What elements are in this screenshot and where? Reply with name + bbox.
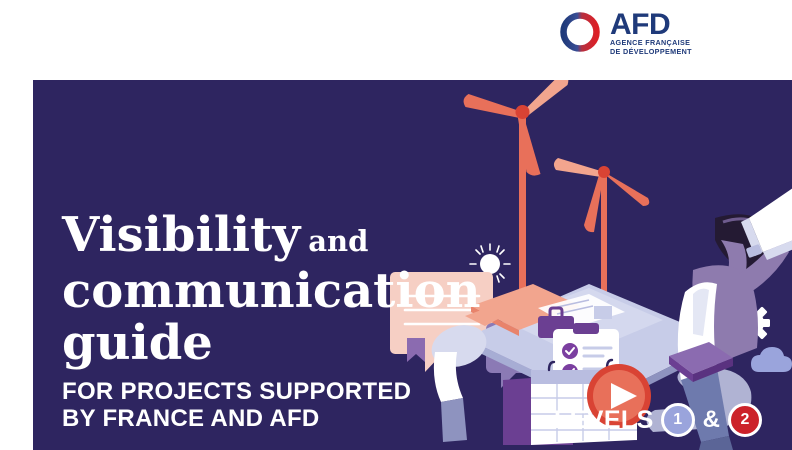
level-badge-1: 1 [661, 403, 695, 437]
title-conjunction: and [300, 224, 368, 258]
briefcase-icon [538, 308, 574, 338]
levels-row: LEVELS 1 & 2 [554, 403, 762, 437]
level-badge-2: 2 [728, 403, 762, 437]
title-line-3: guide [62, 316, 481, 370]
afd-logo: AFD AGENCE FRANÇAISE DE DÉVELOPPEMENT [558, 8, 692, 56]
cover-panel: Visibilityand communication guide FOR PR… [33, 80, 792, 450]
check-icon [562, 364, 578, 380]
decorative-prism [669, 342, 733, 382]
tablet-device [465, 284, 723, 410]
gear-icon [732, 304, 770, 342]
cloud-icon [751, 347, 792, 372]
speech-bubble-purple [486, 323, 549, 388]
levels-label: LEVELS [554, 406, 654, 435]
afd-tagline: AGENCE FRANÇAISE DE DÉVELOPPEMENT [610, 39, 692, 56]
afd-logo-ring-icon [558, 10, 602, 54]
header-bar: AFD AGENCE FRANÇAISE DE DÉVELOPPEMENT [0, 0, 792, 80]
check-icon [562, 343, 578, 359]
afd-logo-text: AFD AGENCE FRANÇAISE DE DÉVELOPPEMENT [610, 8, 692, 56]
levels-separator: & [702, 406, 721, 434]
wind-turbine-small [554, 158, 649, 335]
title-word-visibility: Visibility [62, 207, 300, 263]
cover-subtitle: FOR PROJECTS SUPPORTED BY FRANCE AND AFD [62, 378, 481, 432]
title-line-1: Visibilityand [62, 210, 481, 266]
check-icon [562, 385, 578, 401]
megaphone-icon [741, 188, 792, 260]
cover-text-block: Visibilityand communication guide FOR PR… [62, 210, 481, 432]
document-sheet-white [538, 294, 625, 328]
document-sheet-salmon [471, 284, 581, 336]
afd-wordmark: AFD [610, 10, 692, 39]
title-line-2: communication [62, 266, 481, 316]
